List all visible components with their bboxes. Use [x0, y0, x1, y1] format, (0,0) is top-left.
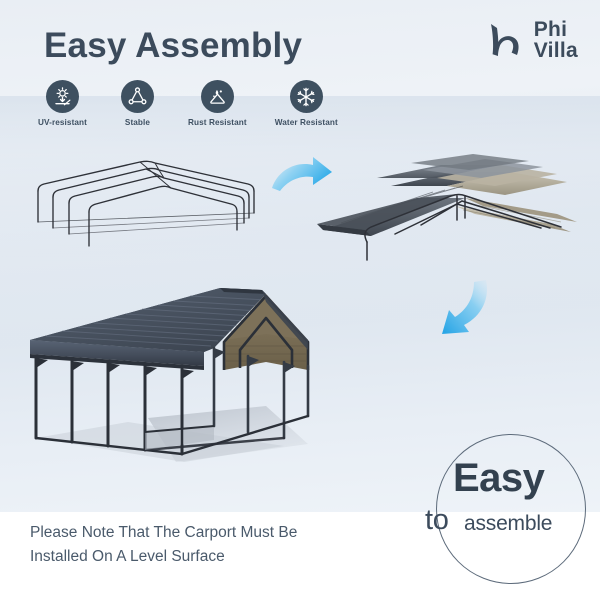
snowflake-icon — [290, 80, 323, 113]
feature-label: Stable — [125, 118, 150, 127]
phi-villa-h-logo-icon — [483, 18, 527, 62]
infographic-canvas: Easy Assembly Phi Villa — [0, 0, 600, 600]
note-line-1: Please Note That The Carport Must Be — [30, 521, 390, 545]
badge-assemble-text: assemble — [464, 512, 552, 536]
easy-to-assemble-badge: Easy to assemble — [436, 434, 590, 588]
brand-line-1: Phi — [534, 19, 578, 40]
note-line-2: Installed On A Level Surface — [30, 545, 390, 569]
curved-arrow-down-left-icon — [424, 276, 496, 340]
badge-to-text: to — [425, 504, 449, 537]
feature-label: Rust Resistant — [188, 118, 247, 127]
badge-easy-text: Easy — [453, 456, 544, 501]
rust-drop-icon — [201, 80, 234, 113]
brand-line-2: Villa — [534, 40, 578, 61]
installation-note: Please Note That The Carport Must Be Ins… — [30, 521, 390, 569]
brand-name: Phi Villa — [534, 19, 578, 62]
assembled-carport-render — [8, 266, 428, 506]
feature-list: UV-resistant Stable — [32, 80, 338, 127]
feature-water-resistant: Water Resistant — [275, 80, 338, 127]
feature-label: UV-resistant — [38, 118, 87, 127]
brand-logo: Phi Villa — [483, 18, 578, 62]
roof-panel-exploded-view — [305, 148, 595, 266]
feature-stable: Stable — [121, 80, 154, 127]
page-title: Easy Assembly — [44, 26, 302, 66]
feature-label: Water Resistant — [275, 118, 338, 127]
triangle-nodes-icon — [121, 80, 154, 113]
feature-uv-resistant: UV-resistant — [38, 80, 87, 127]
carport-frame-wireframe — [12, 150, 284, 265]
feature-rust-resistant: Rust Resistant — [188, 80, 247, 127]
uv-sun-icon — [46, 80, 79, 113]
